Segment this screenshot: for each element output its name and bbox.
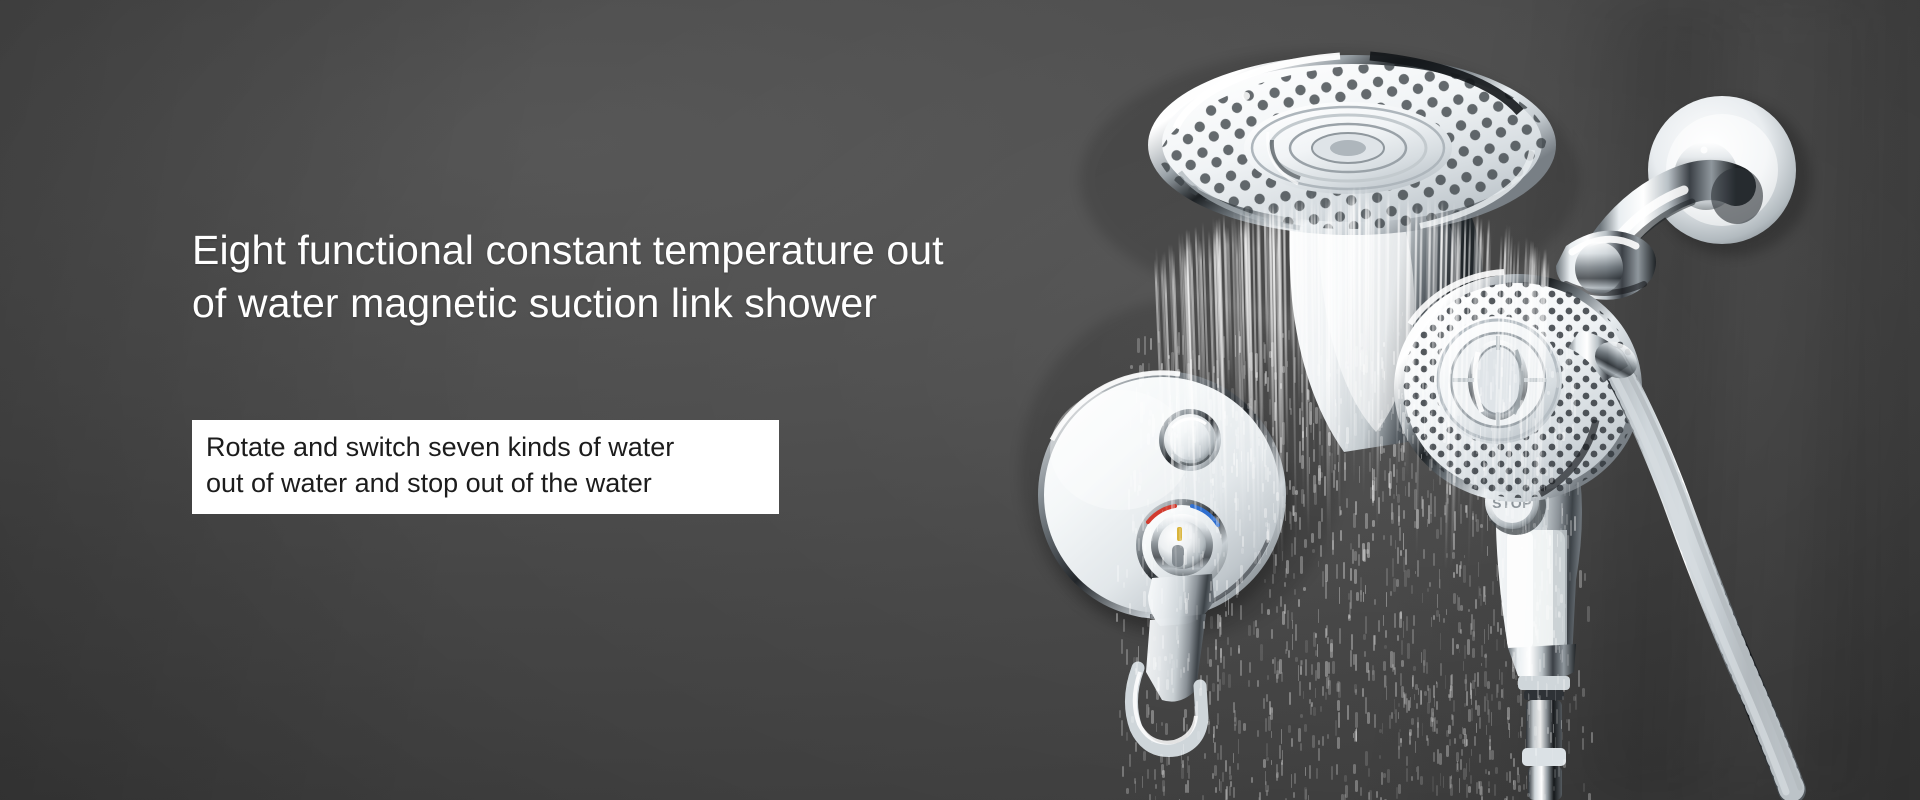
wall-valve-plate — [1038, 371, 1292, 751]
diverter-button — [1159, 409, 1221, 471]
subtitle-text: Rotate and switch seven kinds of water o… — [206, 430, 757, 502]
temperature-indicator — [1177, 527, 1182, 541]
headline-block: Eight functional constant temperature ou… — [192, 224, 1052, 331]
product-image: STOP — [0, 0, 1920, 800]
handheld-nozzles — [1402, 282, 1638, 498]
page-title: Eight functional constant temperature ou… — [192, 224, 1052, 331]
subtitle-box: Rotate and switch seven kinds of water o… — [192, 420, 779, 514]
product-banner: STOP — [0, 0, 1920, 800]
